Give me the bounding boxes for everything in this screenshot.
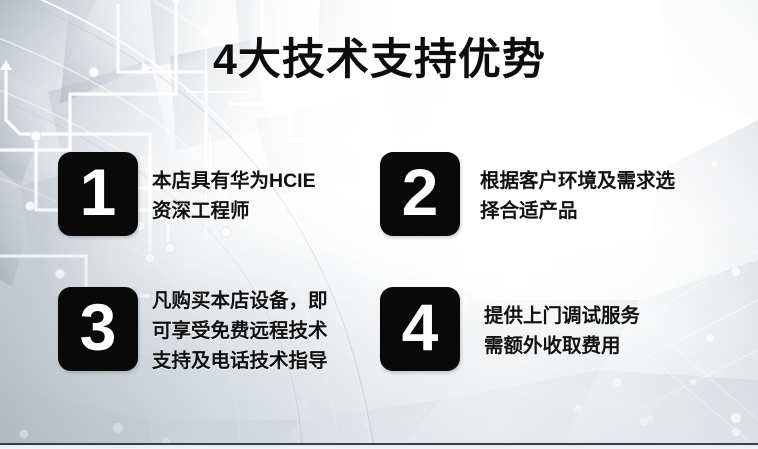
advantage-item-1-line-2: 资深工程师 xyxy=(152,196,316,226)
advantage-item-3-line-1: 凡购买本店设备，即 xyxy=(152,286,328,316)
advantage-item-4-text: 提供上门调试服务 需额外收取费用 xyxy=(484,301,640,361)
number-badge-3-value: 3 xyxy=(58,287,138,371)
advantage-item-2-line-1: 根据客户环境及需求选 xyxy=(480,166,675,196)
advantage-item-1-line-1: 本店具有华为HCIE xyxy=(152,166,316,196)
advantage-item-3-line-3: 支持及电话技术指导 xyxy=(152,346,328,376)
banner-content: 4大技术支持优势 1 本店具有华为HCIE 资深工程师 2 根据客户环境及需求选… xyxy=(0,0,758,449)
number-badge-1-value: 1 xyxy=(58,152,138,236)
advantage-item-3-line-2: 可享受免费远程技术 xyxy=(152,316,328,346)
advantage-item-2-line-2: 择合适产品 xyxy=(480,196,675,226)
page-title: 4大技术支持优势 xyxy=(213,39,546,82)
advantage-item-3-text: 凡购买本店设备，即 可享受免费远程技术 支持及电话技术指导 xyxy=(152,286,328,376)
advantage-item-1-text: 本店具有华为HCIE 资深工程师 xyxy=(152,166,316,226)
tech-support-advantages-banner: 4大技术支持优势 1 本店具有华为HCIE 资深工程师 2 根据客户环境及需求选… xyxy=(0,0,758,449)
number-badge-3: 3 xyxy=(58,287,138,371)
number-badge-4-value: 4 xyxy=(380,287,460,371)
advantage-item-4-line-2: 需额外收取费用 xyxy=(484,331,640,361)
advantage-item-2-text: 根据客户环境及需求选 择合适产品 xyxy=(480,166,675,226)
advantage-item-4-line-1: 提供上门调试服务 xyxy=(484,301,640,331)
number-badge-1: 1 xyxy=(58,152,138,236)
number-badge-2: 2 xyxy=(380,152,460,236)
number-badge-2-value: 2 xyxy=(380,152,460,236)
number-badge-4: 4 xyxy=(380,287,460,371)
